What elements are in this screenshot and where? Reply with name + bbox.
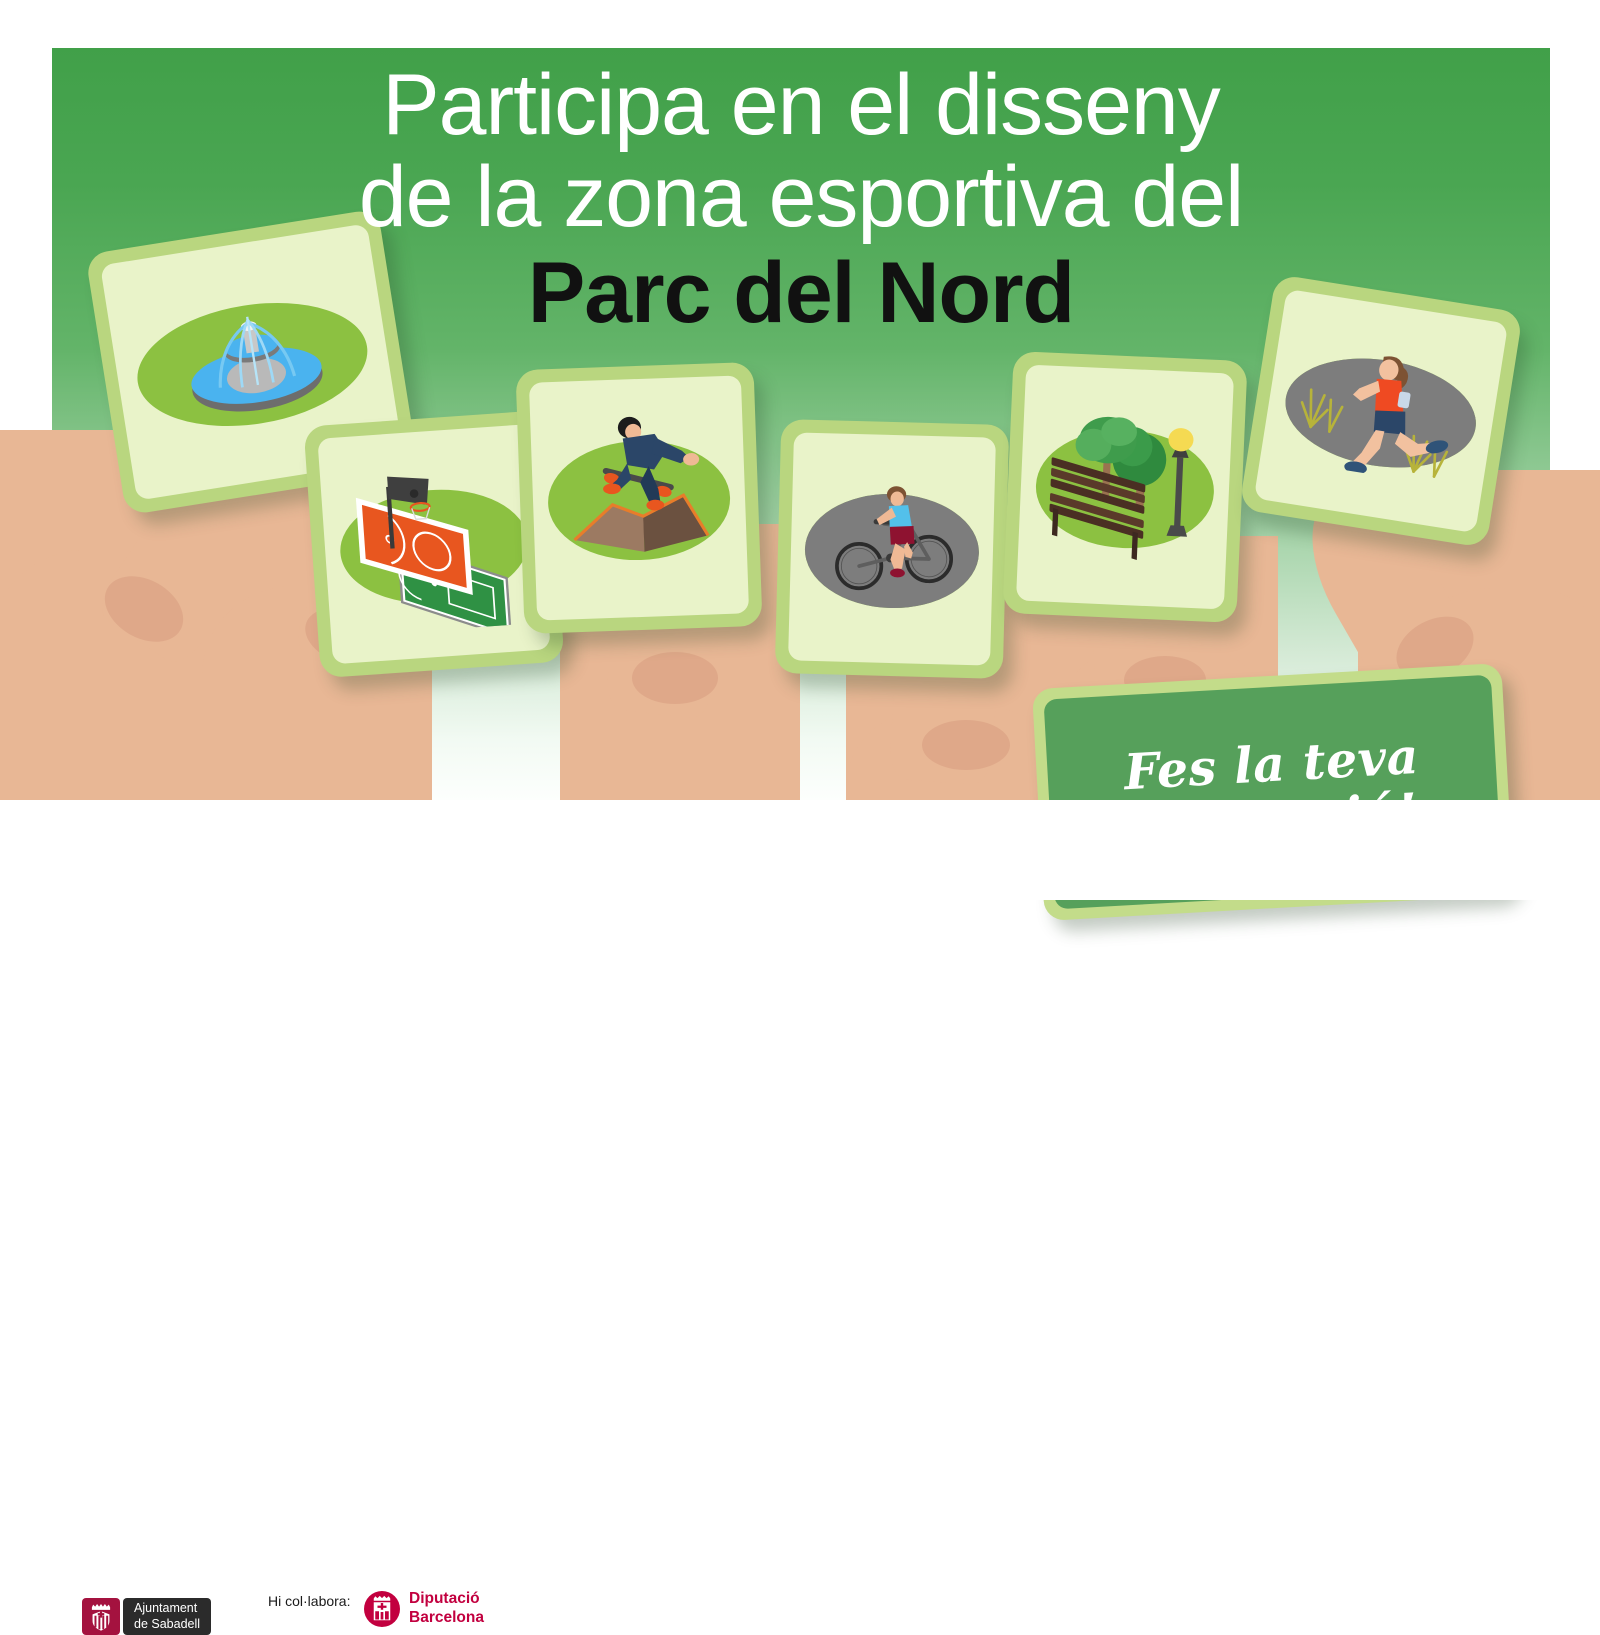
footer-bar: Ajuntament de Sabadell Hi col·labora: (0, 800, 1600, 900)
card-running[interactable] (1239, 274, 1523, 548)
diputacio-line-2: Barcelona (409, 1609, 484, 1626)
card-bike[interactable] (775, 419, 1010, 679)
sabadell-line-2: de Sabadell (134, 1617, 200, 1633)
running-track-icon (1274, 329, 1489, 490)
card-skate[interactable] (515, 362, 762, 634)
sabadell-line-1: Ajuntament (134, 1601, 200, 1617)
sabadell-crest-icon (82, 1598, 120, 1635)
diputacio-line-1: Diputació (409, 1590, 480, 1607)
card-courts-inner (317, 424, 550, 665)
card-bench[interactable] (1002, 351, 1247, 623)
banner-canvas: Participa en el disseny de la zona espor… (0, 0, 1600, 900)
skatepark-icon (547, 395, 732, 591)
card-bike-inner (788, 432, 996, 665)
sports-courts-icon (332, 451, 544, 636)
card-skate-inner (529, 375, 749, 620)
ajuntament-sabadell-logo[interactable]: Ajuntament de Sabadell (82, 1598, 211, 1635)
card-running-inner (1254, 289, 1508, 533)
sabadell-name-block: Ajuntament de Sabadell (123, 1598, 211, 1635)
collaborates-label: Hi col·labora: (268, 1593, 350, 1609)
diputacio-crest-icon (364, 1591, 400, 1627)
diputacio-barcelona-logo[interactable]: Diputació Barcelona (364, 1590, 484, 1627)
bike-path-icon (826, 470, 963, 619)
diputacio-name-block: Diputació Barcelona (409, 1590, 484, 1627)
fountain-icon (165, 274, 341, 435)
card-bench-inner (1016, 365, 1234, 610)
bench-trees-icon (1034, 384, 1221, 585)
